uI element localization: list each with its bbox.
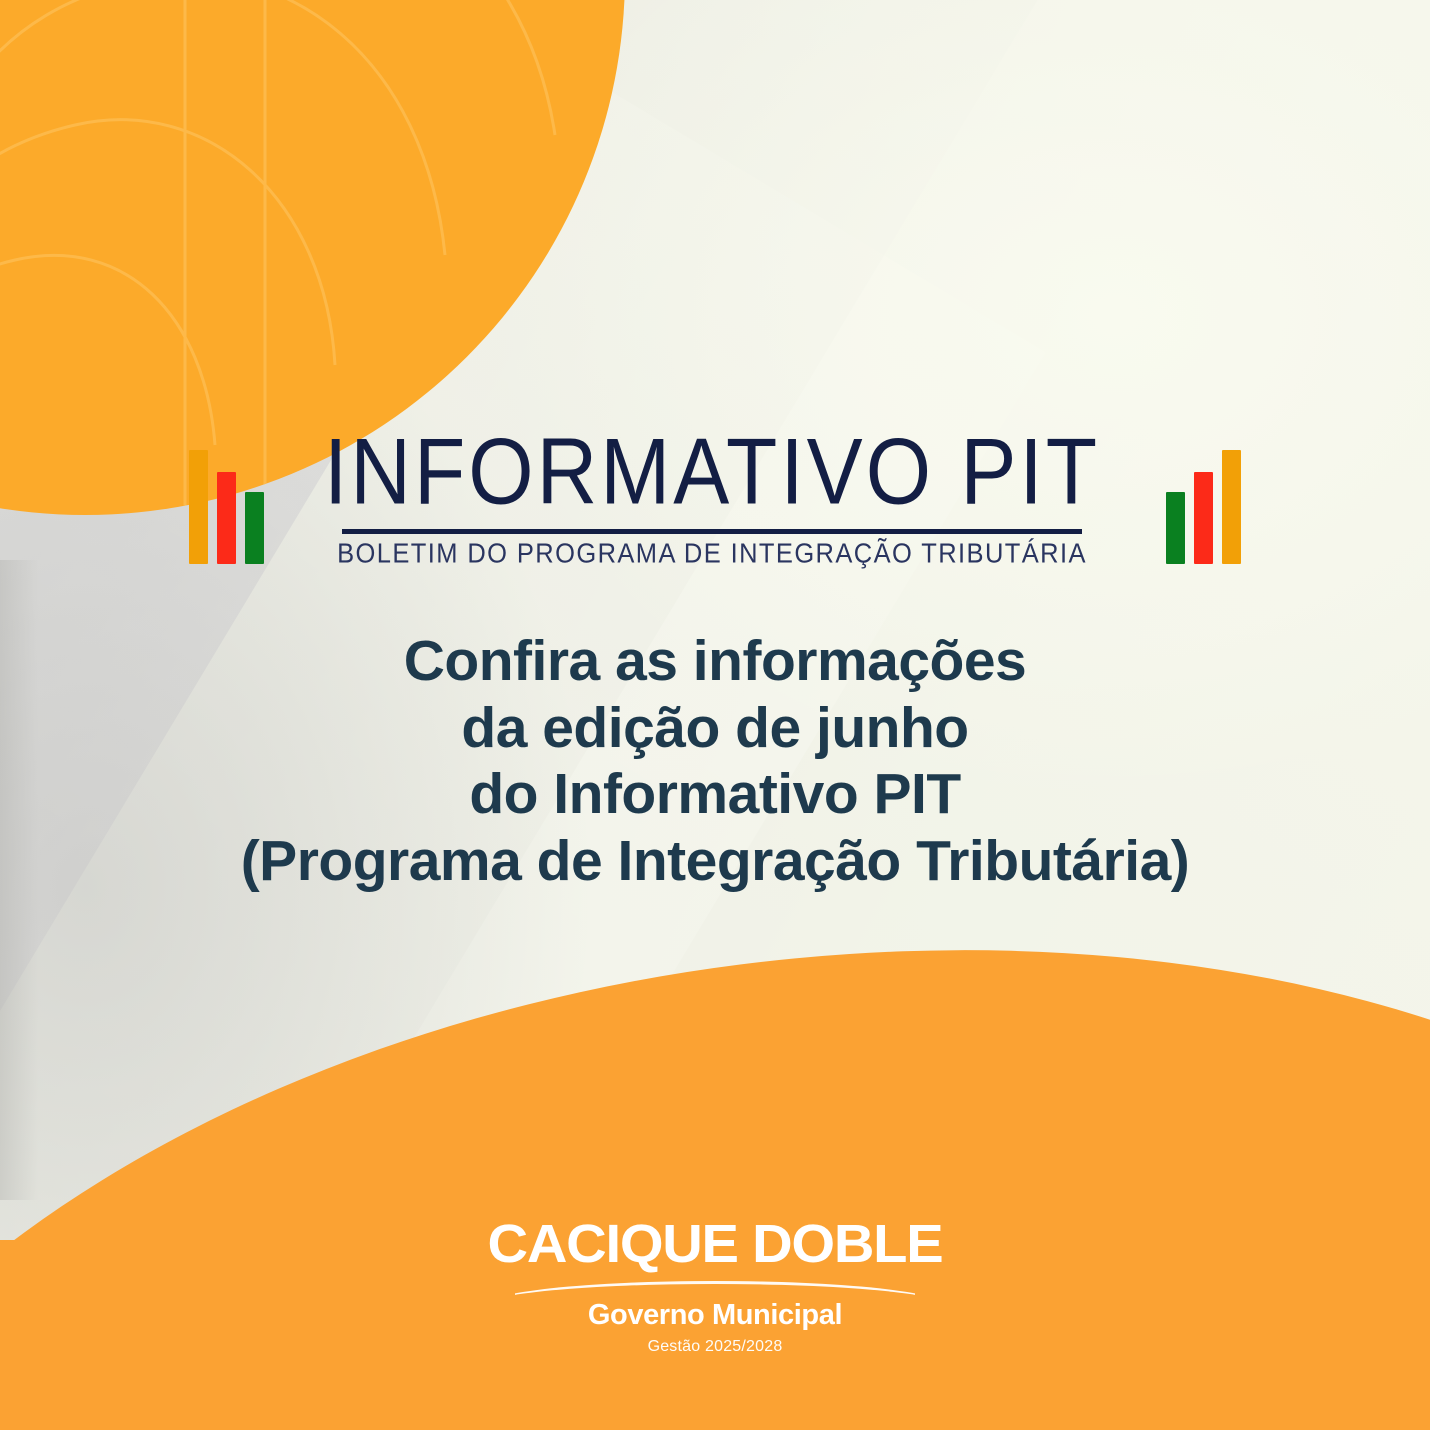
headline-line-4: (Programa de Integração Tributária) xyxy=(0,828,1430,895)
headline-line-3: do Informativo PIT xyxy=(0,761,1430,828)
bar-orange xyxy=(1222,450,1241,564)
bar-orange xyxy=(189,450,208,564)
poster-canvas: INFORMATIVO PIT BOLETIM DO PROGRAMA DE I… xyxy=(0,0,1430,1430)
brand-name: CACIQUE DOBLE xyxy=(0,1217,1430,1271)
bar-green xyxy=(245,492,264,564)
wordmark-title: INFORMATIVO PIT xyxy=(324,426,1100,516)
wordmark-divider xyxy=(342,529,1082,534)
bar-red xyxy=(1194,472,1213,564)
brand-term-label: Gestão 2025/2028 xyxy=(0,1336,1430,1358)
logo-lockup: INFORMATIVO PIT BOLETIM DO PROGRAMA DE I… xyxy=(0,428,1430,568)
bar-red xyxy=(217,472,236,564)
wordmark: INFORMATIVO PIT BOLETIM DO PROGRAMA DE I… xyxy=(324,436,1100,568)
bar-chart-icon-right xyxy=(1166,446,1241,564)
headline-line-1: Confira as informações xyxy=(0,628,1430,695)
brand-government-label: Governo Municipal xyxy=(0,1299,1430,1332)
headline-line-2: da edição de junho xyxy=(0,695,1430,762)
headline-block: Confira as informações da edição de junh… xyxy=(0,628,1430,895)
bar-chart-icon-left xyxy=(189,446,264,564)
bar-green xyxy=(1166,492,1185,564)
brand-swoosh-divider xyxy=(515,1277,915,1297)
wordmark-subtitle: BOLETIM DO PROGRAMA DE INTEGRAÇÃO TRIBUT… xyxy=(337,541,1087,569)
brand-lockup: CACIQUE DOBLE Governo Municipal Gestão 2… xyxy=(0,1217,1430,1358)
